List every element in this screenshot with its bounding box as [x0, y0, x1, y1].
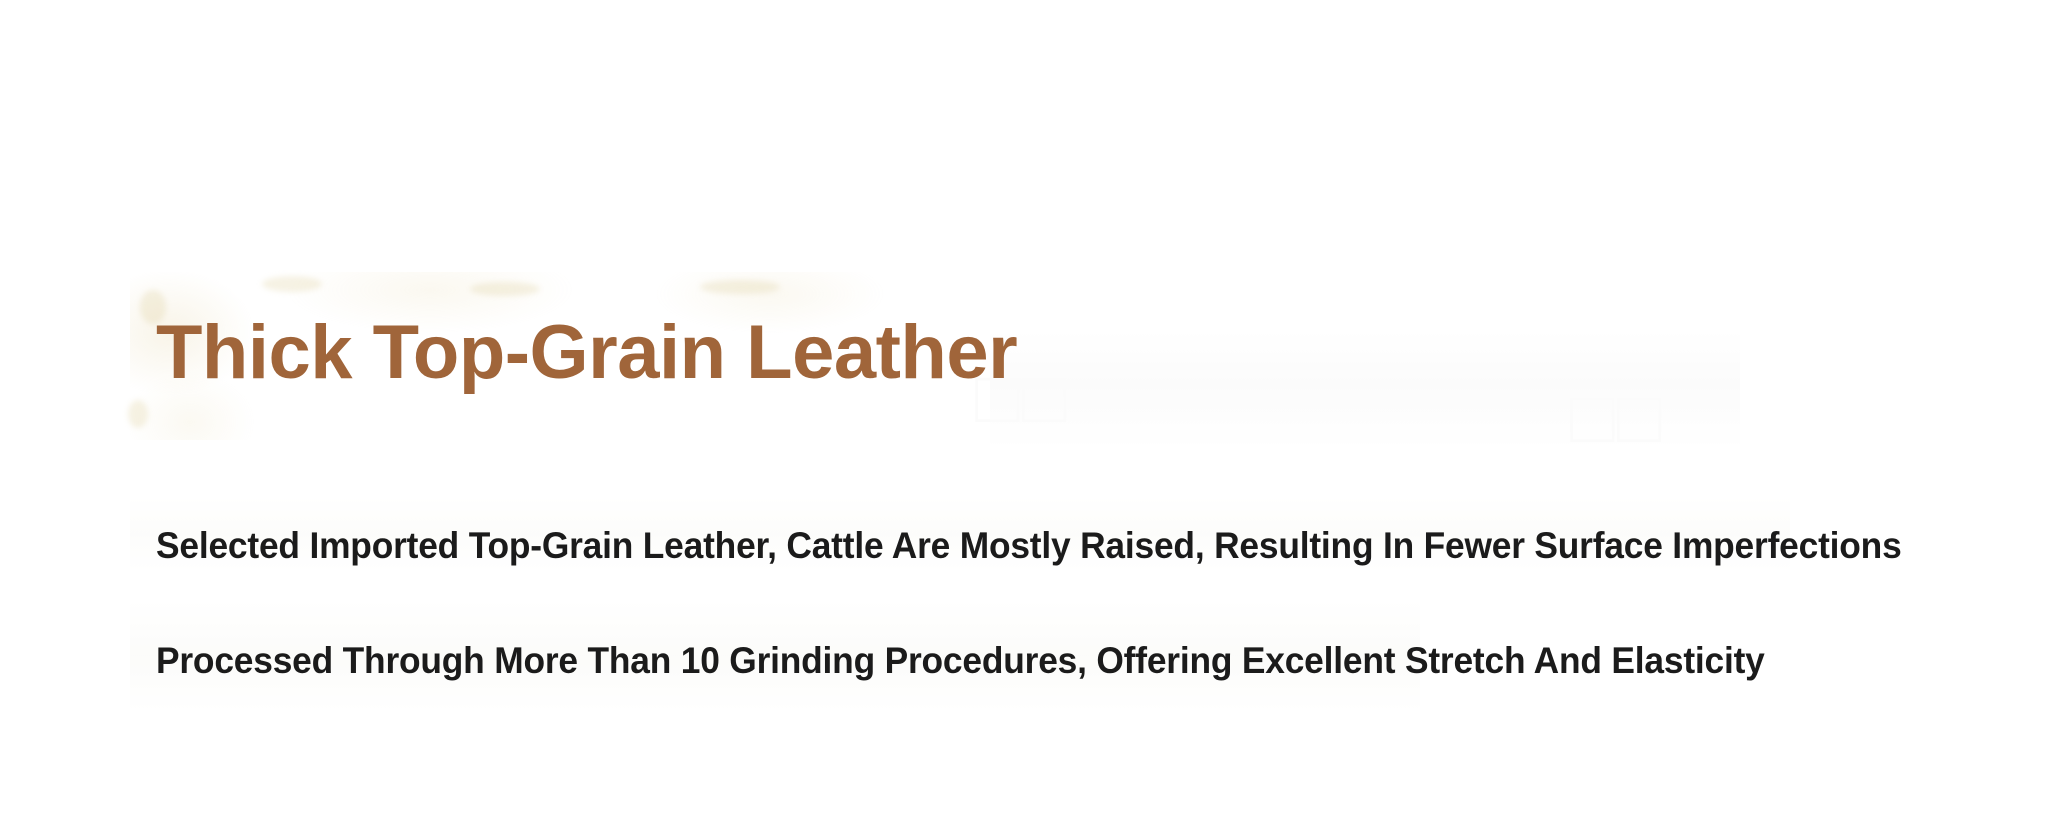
feature-list-item: Processed Through More Than 10 Grinding … [156, 641, 1902, 682]
feature-list-item: Selected Imported Top-Grain Leather, Cat… [156, 526, 1902, 567]
page-title: Thick Top-Grain Leather [156, 315, 1017, 391]
content-area: Thick Top-Grain Leather Selected Importe… [0, 0, 2048, 829]
feature-list: Selected Imported Top-Grain Leather, Cat… [156, 526, 1984, 681]
product-feature-banner: □□ □□ Thick Top-Grain Leather Selected I… [0, 0, 2048, 829]
